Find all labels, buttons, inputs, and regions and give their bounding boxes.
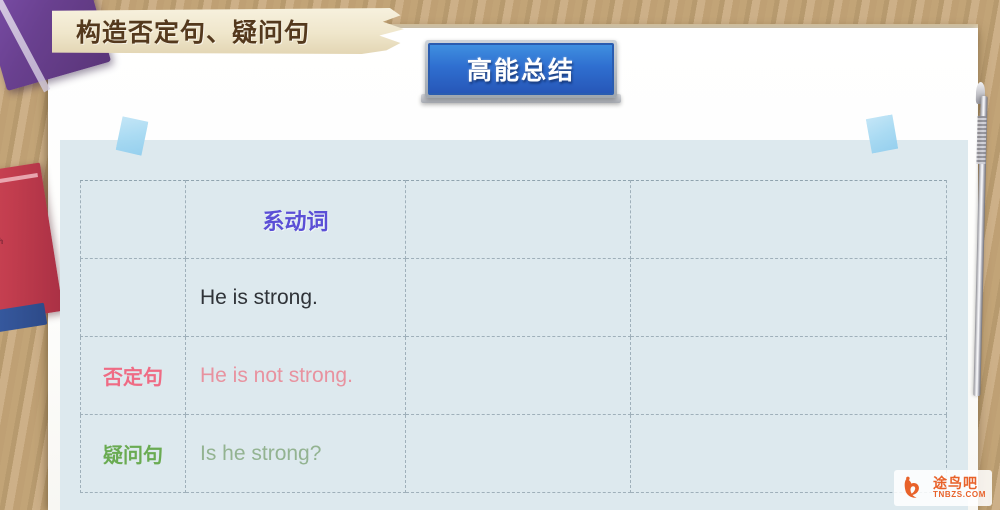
table-cell-empty	[406, 415, 631, 493]
plaque-inner: 高能总结	[428, 43, 614, 95]
table-row: 疑问句 Is he strong?	[81, 415, 947, 493]
table-cell-empty	[406, 259, 631, 337]
table-cell-empty	[406, 181, 631, 259]
page-title: 构造否定句、疑问句	[76, 13, 310, 49]
desk-scene: English 构造否定句、疑问句 高能总结 系动词 He is strong.	[0, 0, 1000, 510]
negative-sentence: He is not strong.	[186, 337, 406, 415]
row-label	[81, 259, 186, 337]
plaque-frame: 高能总结	[425, 40, 617, 98]
watermark-en: TNBZS.COM	[933, 491, 986, 499]
watermark-texts: 途鸟吧 TNBZS.COM	[933, 476, 986, 499]
watermark: 途鸟吧 TNBZS.COM	[894, 470, 992, 506]
watermark-cn: 途鸟吧	[933, 476, 986, 491]
title-ribbon: 构造否定句、疑问句	[52, 8, 404, 54]
table-cell-empty	[631, 259, 947, 337]
table-row: He is strong.	[81, 259, 947, 337]
blue-book-decoration	[0, 303, 47, 336]
table-cell-empty	[631, 337, 947, 415]
table-cell-empty	[631, 181, 947, 259]
binder-ring-icon	[0, 0, 3, 5]
question-row-label: 疑问句	[81, 415, 186, 493]
plaque-title: 高能总结	[467, 51, 575, 87]
row-label	[81, 181, 186, 259]
negative-row-label: 否定句	[81, 337, 186, 415]
affirmative-sentence: He is strong.	[186, 259, 406, 337]
table-row: 否定句 He is not strong.	[81, 337, 947, 415]
be-verb-header: 系动词	[186, 181, 406, 259]
red-book-spine-label: English	[0, 236, 4, 249]
pen-grip	[976, 116, 986, 164]
table-row: 系动词	[81, 181, 947, 259]
summary-plaque: 高能总结	[425, 40, 617, 106]
grammar-table: 系动词 He is strong. 否定句 He is not strong. …	[80, 180, 947, 493]
phoenix-logo-icon	[900, 474, 928, 502]
table-cell-empty	[406, 337, 631, 415]
question-sentence: Is he strong?	[186, 415, 406, 493]
